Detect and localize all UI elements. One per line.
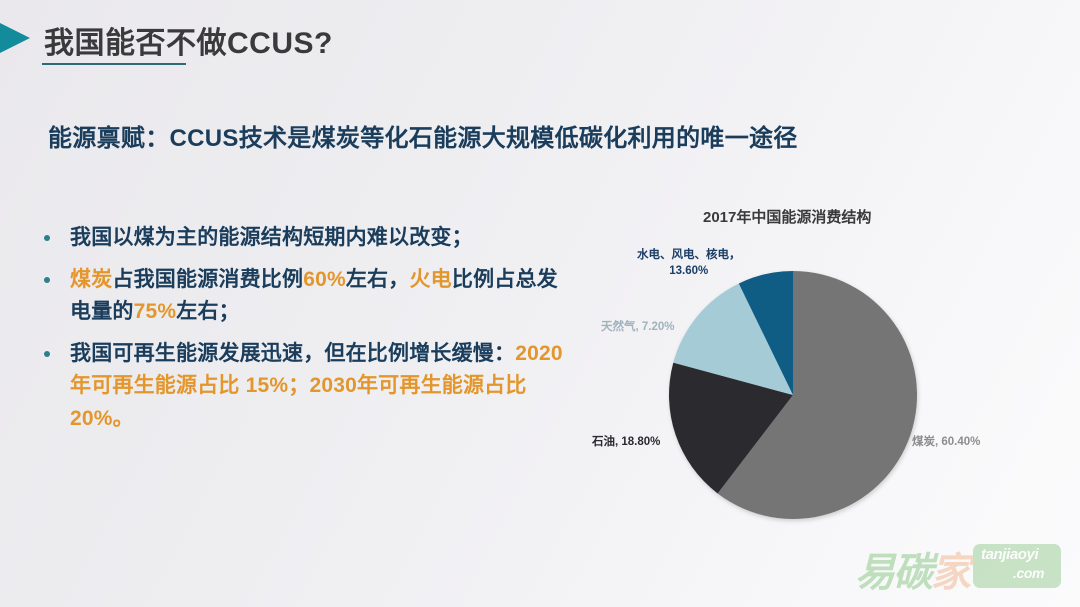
list-item: 煤炭占我国能源消费比例60%左右，火电比例占总发电量的75%左右； [44,264,564,329]
highlight-thermal: 火电 [409,268,451,291]
bullet-plain: 左右； [176,300,240,323]
pie-chart [668,270,918,520]
watermark-brand-part1: 易碳 [855,551,931,595]
bullet-plain: 我国可再生能源发展迅速，但在比例增长缓慢： [70,342,515,365]
highlight-60pct: 60% [303,268,346,291]
watermark-domain-top: tanjiaoyi [981,546,1038,563]
bullet-plain: 占我国能源消费比例 [112,268,303,291]
highlight-coal: 煤炭 [70,268,112,291]
highlight-75pct: 75% [134,300,177,323]
bullet-dot-icon [44,277,50,283]
watermark-brand-text: 易碳家 [855,540,969,598]
chart-title: 2017年中国能源消费结构 [703,206,871,227]
watermark-logo: 易碳家 tanjiaoyi .com [855,538,1063,596]
pie-label-hydro-wind-nuclear: 水电、风电、核电， 13.60% [637,248,741,279]
list-item: 我国可再生能源发展迅速，但在比例增长缓慢：2020 年可再生能源占比 15%；2… [44,338,564,436]
watermark-domain-bottom: .com [1013,565,1044,581]
slide-subtitle: 能源禀赋：CCUS技术是煤炭等化石能源大规模低碳化利用的唯一途径 [48,118,798,153]
title-underline-divider [42,63,186,65]
slide-canvas: 我国能否不做CCUS? 能源禀赋：CCUS技术是煤炭等化石能源大规模低碳化利用的… [0,0,1080,607]
pie-slices [669,271,917,519]
pie-chart-svg [668,270,918,520]
pie-label-gas: 天然气, 7.20% [601,320,675,336]
bullet-plain: 左右， [346,268,410,291]
pie-label-oil: 石油, 18.80% [592,435,660,451]
bullet-dot-icon [44,235,50,241]
header-arrow-icon [0,14,30,62]
bullet-text-3: 我国可再生能源发展迅速，但在比例增长缓慢：2020 年可再生能源占比 15%；2… [70,338,564,436]
watermark-brand-part2: 家 [931,551,969,595]
page-title: 我国能否不做CCUS? [44,18,333,62]
bullet-text-1: 我国以煤为主的能源结构短期内难以改变； [70,222,473,255]
list-item: 我国以煤为主的能源结构短期内难以改变； [44,222,564,255]
pie-label-coal: 煤炭, 60.40% [912,435,980,451]
bullet-dot-icon [44,351,50,357]
bullet-text-2: 煤炭占我国能源消费比例60%左右，火电比例占总发电量的75%左右； [70,264,564,329]
bullet-list: 我国以煤为主的能源结构短期内难以改变； 煤炭占我国能源消费比例60%左右，火电比… [44,222,564,444]
